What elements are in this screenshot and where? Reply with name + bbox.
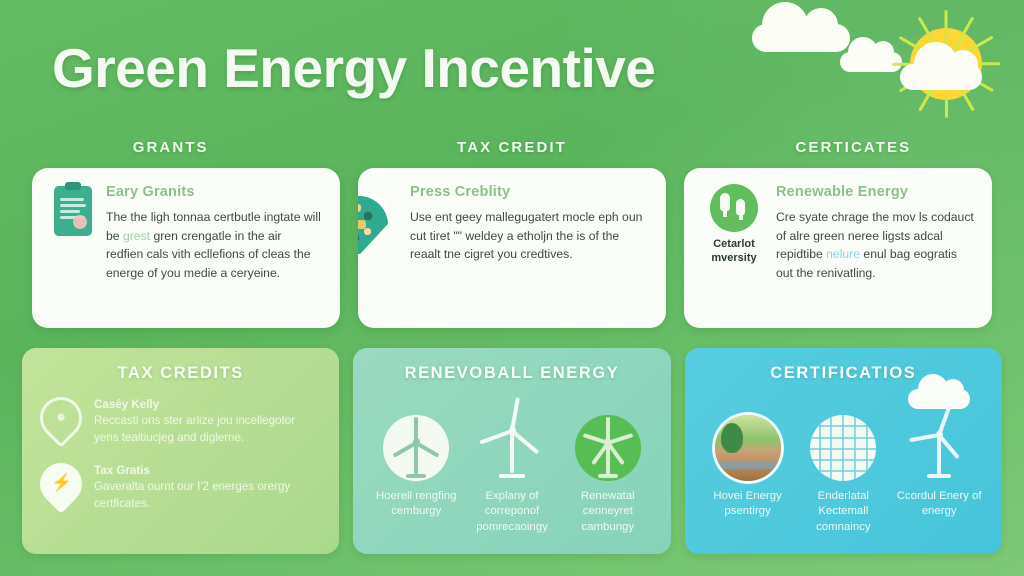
column-label-row: GRANTS TAX CREDIT CERTICATES: [0, 139, 1024, 156]
trio-item[interactable]: Enderlatal Kectemall comnaincy: [798, 397, 888, 535]
wind-turbine-large-icon: [469, 389, 555, 481]
pie-segment: [364, 212, 372, 220]
pie-segment: [358, 204, 361, 212]
trio-item-caption: Hoerell rengfing cemburgy: [371, 489, 461, 520]
globe-parallel: [810, 459, 876, 461]
renewable-icon-trio: Hoerell rengfing cemburgy Explany: [371, 397, 652, 535]
trio-item-caption: Enderlatal Kectemall comnaincy: [798, 489, 888, 535]
column-label-grants: GRANTS: [0, 139, 341, 156]
card-certicates-text: Cre syate chrage the mov ls codauct of a…: [776, 208, 974, 282]
pie-chart-leaf-icon: [358, 196, 394, 260]
wind-turbine-white-circle-icon: [383, 415, 449, 481]
tax-credit-item-heading: Caséy Kelly: [94, 397, 321, 413]
globe-parallel: [810, 425, 876, 427]
card-grants-icon-column: [50, 184, 96, 282]
infographic-page: Green Energy Incentive GRANTS TAX CREDIT…: [0, 0, 1024, 576]
wind-turbine-green-circle-icon: [575, 415, 641, 481]
pie-chart-leaf-shape: [358, 196, 388, 254]
page-title: Green Energy Incentive: [52, 36, 655, 100]
card-certicates-icon-column: Cetarlot mversity: [702, 184, 766, 282]
tax-credit-item-body: Gaveralta ournt our I'2 energes orergy c…: [94, 480, 290, 509]
card-certicates-text-highlight: nelure: [826, 247, 860, 261]
panels-row: TAX CREDITS ● Caséy Kelly Reccastl ons s…: [22, 348, 1002, 554]
tax-credit-item-body: Reccastl ons ster arlize jou incellegoto…: [94, 414, 295, 443]
trio-item[interactable]: Explany of correponof pomrecaoingy: [467, 397, 557, 535]
card-grants-text-highlight: grest: [123, 229, 150, 243]
trio-item[interactable]: Renewatal cenneyret cambungy: [563, 397, 653, 535]
card-certicates[interactable]: Cetarlot mversity Renewable Energy Cre s…: [684, 168, 992, 328]
column-label-certicates: CERTICATES: [683, 139, 1024, 156]
trio-item[interactable]: Hoerell rengfing cemburgy: [371, 397, 461, 535]
globe-parallel: [810, 470, 876, 472]
panel-renewable-energy-title: RENEVOBALL ENERGY: [371, 364, 652, 383]
card-certicates-title: Renewable Energy: [776, 184, 974, 200]
pie-segment: [358, 234, 359, 242]
list-item[interactable]: ⚡ Tax Gratis Gaveralta ournt our I'2 ene…: [40, 463, 321, 517]
cloud-icon: [752, 24, 850, 52]
trees-circle-icon: [710, 184, 758, 232]
globe-parallel: [810, 437, 876, 439]
location-pin-bolt-icon: ⚡: [40, 463, 82, 517]
card-tax-credit-text: Use ent geey mallegugatert mocle eph oun…: [410, 208, 648, 264]
trio-item-caption: Explany of correponof pomrecaoingy: [467, 489, 557, 535]
sun-icon: [880, 6, 1000, 126]
card-grants[interactable]: Eary Granits The the ligh tonnaa certbut…: [32, 168, 340, 328]
panel-tax-credits[interactable]: TAX CREDITS ● Caséy Kelly Reccastl ons s…: [22, 348, 339, 554]
cards-row: Eary Granits The the ligh tonnaa certbut…: [32, 168, 992, 328]
card-certicates-text-a: Cre syate chrage the mov ls: [776, 210, 928, 224]
card-grants-title: Eary Granits: [106, 184, 322, 200]
panel-certifications[interactable]: CERTIFICATIOS Hovei Energy psentirgy End…: [685, 348, 1002, 554]
trio-item-caption: Renewatal cenneyret cambungy: [563, 489, 653, 535]
card-tax-credit[interactable]: Press Creblity Use ent geey mallegugater…: [358, 168, 666, 328]
tax-credit-item-text: Tax Gratis Gaveralta ournt our I'2 energ…: [94, 463, 321, 512]
cloud-icon: [900, 64, 982, 90]
globe-parallel: [810, 448, 876, 450]
cloud-turbine-icon: [896, 389, 982, 481]
location-pin-lightbulb-outline-icon: ●: [40, 397, 82, 451]
clipboard-icon: [54, 186, 92, 236]
certifications-icon-trio: Hovei Energy psentirgy Enderlatal Kectem…: [703, 397, 984, 535]
tax-credit-item-text: Caséy Kelly Reccastl ons ster arlize jou…: [94, 397, 321, 446]
column-label-tax-credit: TAX CREDIT: [341, 139, 682, 156]
panel-renewable-energy[interactable]: RENEVOBALL ENERGY Hoerell r: [353, 348, 670, 554]
card-grants-text: The the ligh tonnaa certbutle ingtate wi…: [106, 208, 322, 282]
trio-item-caption: Ccordul Enery of energy: [894, 489, 984, 520]
panel-tax-credits-title: TAX CREDITS: [40, 364, 321, 383]
card-certicates-icon-caption: Cetarlot mversity: [702, 238, 766, 266]
card-tax-credit-title: Press Creblity: [410, 184, 648, 200]
globe-grid-icon: [810, 415, 876, 481]
tax-credit-item-heading: Tax Gratis: [94, 463, 321, 479]
list-item[interactable]: ● Caséy Kelly Reccastl ons ster arlize j…: [40, 397, 321, 451]
trio-item[interactable]: Hovei Energy psentirgy: [703, 397, 793, 535]
trio-item-caption: Hovei Energy psentirgy: [703, 489, 793, 520]
landscape-photo-circle-icon: [715, 415, 781, 481]
trio-item[interactable]: Ccordul Enery of energy: [894, 397, 984, 535]
card-grants-text-a: The the ligh tonnaa: [106, 210, 210, 224]
pie-segment: [364, 228, 371, 235]
